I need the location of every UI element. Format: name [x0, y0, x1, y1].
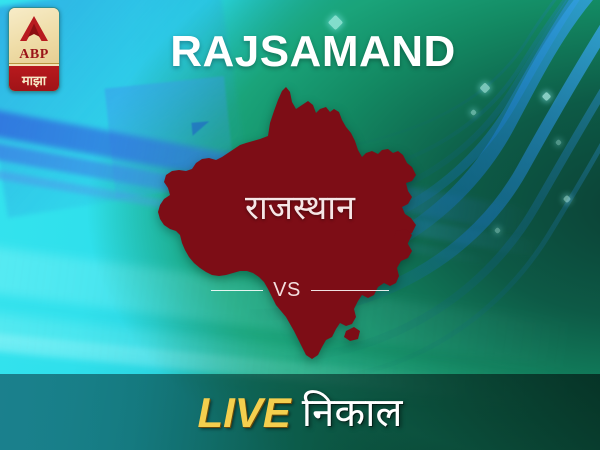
versus-line-left: [211, 290, 263, 291]
versus-row: VS: [0, 277, 600, 303]
live-label: LIVE: [197, 391, 290, 435]
versus-label: VS: [273, 280, 301, 300]
live-result-banner: LIVE निकाल: [0, 384, 600, 442]
versus-line-right: [311, 290, 389, 291]
result-label: निकाल: [302, 391, 403, 435]
rajasthan-map-icon: [150, 83, 450, 378]
broadcast-graphic: ABP माझा RAJSAMAND राजस्थान VS LIVE निका…: [0, 0, 600, 450]
constituency-title: RAJSAMAND: [0, 27, 600, 77]
state-name-label: राजस्थान: [150, 188, 450, 228]
